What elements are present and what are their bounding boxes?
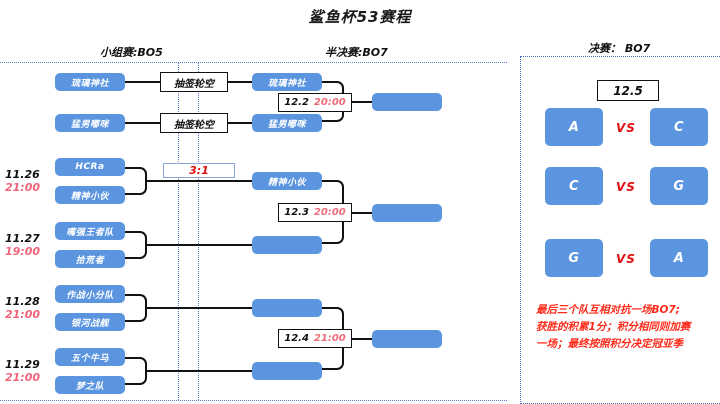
finals-vs-3: VS — [616, 252, 636, 266]
team-pill-semi-2-top[interactable]: 精神小伙 — [252, 172, 322, 190]
stage-header-group: 小组赛:BO5 — [100, 44, 163, 60]
team-pill-group-4b[interactable]: 拾荒者 — [55, 250, 125, 268]
team-pill-group-6a[interactable]: 五个牛马 — [55, 348, 125, 366]
connector-line — [145, 370, 255, 372]
match-datetime-1127: 11.27 19:00 — [5, 232, 40, 258]
bracket-hook — [125, 245, 147, 259]
team-pill-group-5a[interactable]: 作战小分队 — [55, 285, 125, 303]
connector-line — [145, 244, 255, 246]
match-date: 12.3 — [284, 207, 309, 218]
finals-team-2-left[interactable]: C — [545, 167, 603, 205]
match-date: 11.26 — [5, 168, 40, 181]
bracket-hook — [125, 294, 147, 308]
team-pill-group-3a[interactable]: HCRa — [55, 158, 125, 176]
match-time: 20:00 — [314, 207, 346, 218]
match-date: 11.27 — [5, 232, 40, 245]
finals-vs-2: VS — [616, 180, 636, 194]
stage-header-final: 决赛： BO7 — [588, 40, 650, 56]
connector-line — [145, 180, 255, 182]
connector-line — [228, 81, 252, 83]
connector-line — [228, 122, 252, 124]
match-time: 20:00 — [314, 97, 346, 108]
team-pill-semi-3-top[interactable] — [252, 299, 322, 317]
team-pill-semi-1-bottom[interactable]: 猛男嘟咪 — [252, 114, 322, 132]
finals-rules-line-2: 获胜的积累1分；积分相同则加赛 — [536, 319, 720, 336]
bracket-hook — [125, 308, 147, 322]
match-date: 11.29 — [5, 358, 40, 371]
match-time: 19:00 — [5, 245, 40, 258]
team-pill-semi-2-winner[interactable] — [372, 204, 442, 222]
bye-box-2: 抽签轮空 — [160, 113, 228, 133]
team-pill-semi-2-bottom[interactable] — [252, 236, 322, 254]
connector-line — [125, 81, 160, 83]
match-box-semi-2: 12.3 20:00 — [278, 203, 352, 222]
team-pill-semi-3-winner[interactable] — [372, 330, 442, 348]
match-time: 21:00 — [314, 333, 346, 344]
finals-team-2-right[interactable]: G — [650, 167, 708, 205]
bracket-hook — [125, 231, 147, 245]
score-box-1126: 3:1 — [163, 163, 235, 178]
connector-line — [125, 122, 160, 124]
finals-rules-note: 最后三个队互相对抗一场BO7; 获胜的积累1分；积分相同则加赛 一场；最终按照积… — [536, 302, 720, 353]
match-box-semi-3: 12.4 21:00 — [278, 329, 352, 348]
match-date: 12.4 — [284, 333, 309, 344]
team-pill-group-6b[interactable]: 梦之队 — [55, 376, 125, 394]
bracket-canvas: 鲨鱼杯53赛程 小组赛:BO5 半决赛:BO7 决赛： BO7 琉璃神社 抽签轮… — [0, 0, 720, 404]
bye-box-1: 抽签轮空 — [160, 72, 228, 92]
bracket-hook — [125, 357, 147, 371]
connector-line — [145, 307, 255, 309]
finals-rules-line-3: 一场；最终按照积分决定冠亚季 — [536, 336, 720, 353]
team-pill-group-5b[interactable]: 银河战舰 — [55, 313, 125, 331]
bracket-hook — [125, 371, 147, 385]
finals-team-1-right[interactable]: C — [650, 108, 708, 146]
finals-team-1-left[interactable]: A — [545, 108, 603, 146]
match-time: 21:00 — [5, 308, 40, 321]
team-pill-semi-1-winner[interactable] — [372, 93, 442, 111]
guide-line-top — [0, 62, 507, 63]
match-time: 21:00 — [5, 181, 40, 194]
match-date: 11.28 — [5, 295, 40, 308]
match-datetime-1128: 11.28 21:00 — [5, 295, 40, 321]
finals-date-box: 12.5 — [597, 80, 659, 101]
finals-rules-line-1: 最后三个队互相对抗一场BO7; — [536, 302, 720, 319]
team-pill-group-3b[interactable]: 精神小伙 — [55, 186, 125, 204]
stage-header-semifinal: 半决赛:BO7 — [325, 44, 388, 60]
finals-vs-1: VS — [616, 121, 636, 135]
match-time: 21:00 — [5, 371, 40, 384]
finals-team-3-left[interactable]: G — [545, 239, 603, 277]
team-pill-group-1a[interactable]: 琉璃神社 — [55, 73, 125, 91]
guide-line-bottom — [0, 400, 507, 401]
team-pill-group-2a[interactable]: 猛男嘟咪 — [55, 114, 125, 132]
team-pill-semi-3-bottom[interactable] — [252, 362, 322, 380]
team-pill-semi-1-top[interactable]: 琉璃神社 — [252, 73, 322, 91]
team-pill-group-4a[interactable]: 嘴强王者队 — [55, 222, 125, 240]
page-title: 鲨鱼杯53赛程 — [0, 6, 720, 27]
match-date: 12.2 — [284, 97, 309, 108]
match-datetime-1126: 11.26 21:00 — [5, 168, 40, 194]
finals-team-3-right[interactable]: A — [650, 239, 708, 277]
bracket-hook — [125, 167, 147, 181]
match-datetime-1129: 11.29 21:00 — [5, 358, 40, 384]
match-box-semi-1: 12.2 20:00 — [278, 93, 352, 112]
bracket-hook — [125, 181, 147, 195]
